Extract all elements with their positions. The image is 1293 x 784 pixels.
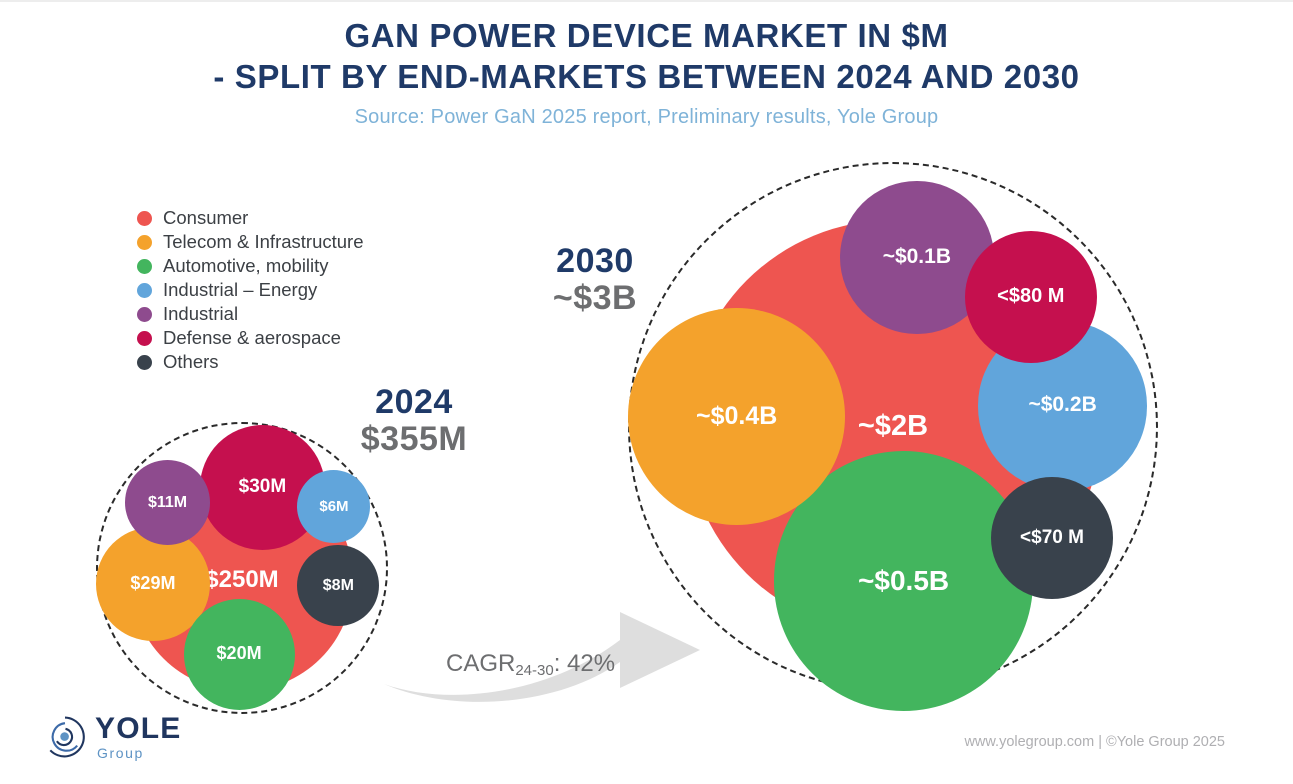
year-2024-number: 2024 xyxy=(304,385,524,421)
bubble-value-label: $30M xyxy=(239,477,287,498)
legend-item[interactable]: Automotive, mobility xyxy=(137,254,364,278)
bubble-cluster-2024: $250M$30M$29M$20M$11M$8M$6M xyxy=(96,422,388,714)
legend-color-swatch-icon xyxy=(137,235,152,250)
legend-color-swatch-icon xyxy=(137,331,152,346)
bubble-value-label: ~$0.2B xyxy=(1028,394,1096,417)
yole-spiral-icon xyxy=(42,714,88,760)
legend-item[interactable]: Industrial – Energy xyxy=(137,278,364,302)
cagr-suffix: : 42% xyxy=(554,650,615,677)
footer-credit: www.yolegroup.com | ©Yole Group 2025 xyxy=(964,734,1225,750)
legend: ConsumerTelecom & InfrastructureAutomoti… xyxy=(137,206,364,374)
yole-logo-secondary: Group xyxy=(97,746,181,760)
bubble-others[interactable]: $8M xyxy=(297,545,379,627)
legend-item[interactable]: Telecom & Infrastructure xyxy=(137,230,364,254)
legend-item-label: Automotive, mobility xyxy=(163,255,329,277)
bubble-value-label: ~$0.1B xyxy=(883,246,951,269)
bubble-value-label: <$70 M xyxy=(1020,528,1084,549)
source-subtitle: Source: Power GaN 2025 report, Prelimina… xyxy=(0,106,1293,129)
legend-item[interactable]: Consumer xyxy=(137,206,364,230)
cagr-subscript: 24-30 xyxy=(515,662,553,679)
bubble-others[interactable]: <$70 M xyxy=(991,477,1113,599)
legend-color-swatch-icon xyxy=(137,355,152,370)
page-title-line2: - SPLIT BY END-MARKETS BETWEEN 2024 AND … xyxy=(0,57,1293,98)
legend-color-swatch-icon xyxy=(137,307,152,322)
bubble-defense-aerospace[interactable]: <$80 M xyxy=(965,231,1098,364)
bubble-value-label: ~$0.4B xyxy=(696,403,777,430)
bubble-value-label: $6M xyxy=(319,499,348,515)
legend-color-swatch-icon xyxy=(137,211,152,226)
bubble-telecom-infrastructure[interactable]: ~$0.4B xyxy=(628,308,845,525)
yole-logo: YOLE Group xyxy=(42,714,181,760)
bubble-value-label: $8M xyxy=(323,577,354,594)
cagr-label: CAGR24-30: 42% xyxy=(446,650,615,678)
bubble-industrial[interactable]: $11M xyxy=(125,460,210,545)
bubble-value-label: ~$0.5B xyxy=(858,566,949,596)
legend-item[interactable]: Defense & aerospace xyxy=(137,326,364,350)
title-block: GAN POWER DEVICE MARKET IN $M - SPLIT BY… xyxy=(0,16,1293,129)
infographic-slide: GAN POWER DEVICE MARKET IN $M - SPLIT BY… xyxy=(0,0,1293,784)
bubble-value-label: $11M xyxy=(148,494,187,511)
yole-logo-primary: YOLE xyxy=(95,714,181,744)
legend-item-label: Others xyxy=(163,351,219,373)
cagr-prefix: CAGR xyxy=(446,650,515,677)
legend-item-label: Industrial xyxy=(163,303,238,325)
bubble-automotive-mobility[interactable]: $20M xyxy=(184,599,295,710)
bubble-value-label: ~$2B xyxy=(858,411,928,442)
page-title-line1: GAN POWER DEVICE MARKET IN $M xyxy=(0,16,1293,57)
legend-item-label: Defense & aerospace xyxy=(163,327,341,349)
bubble-value-label: <$80 M xyxy=(997,286,1064,308)
legend-item[interactable]: Others xyxy=(137,350,364,374)
legend-item[interactable]: Industrial xyxy=(137,302,364,326)
bubble-value-label: $20M xyxy=(217,644,262,663)
legend-item-label: Consumer xyxy=(163,207,248,229)
legend-color-swatch-icon xyxy=(137,283,152,298)
legend-color-swatch-icon xyxy=(137,259,152,274)
bubble-value-label: $29M xyxy=(130,574,175,593)
bubble-value-label: $250M xyxy=(205,567,278,593)
yole-logo-text: YOLE Group xyxy=(95,714,181,760)
legend-item-label: Telecom & Infrastructure xyxy=(163,231,364,253)
legend-item-label: Industrial – Energy xyxy=(163,279,317,301)
